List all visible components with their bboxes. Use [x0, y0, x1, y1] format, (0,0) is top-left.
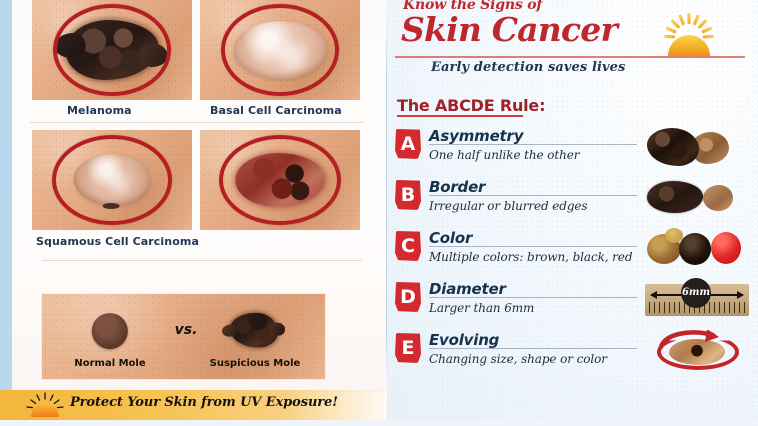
- abcde-row-border[interactable]: B Border Irregular or blurred edges: [395, 177, 755, 227]
- abcde-row-asymmetry[interactable]: A Asymmetry One half unlike the other: [395, 126, 755, 176]
- page-title-line2: Skin Cancer: [401, 12, 617, 48]
- letter-badge-c: C: [395, 231, 421, 261]
- letter-badge-a: A: [395, 129, 421, 159]
- skin-photo: [200, 0, 360, 100]
- lesion-suspicious-mole: [230, 313, 278, 348]
- highlight-ring: [53, 4, 171, 96]
- skin-photo: [32, 130, 192, 230]
- photo-cell-melanoma: [32, 0, 192, 100]
- row-title-border: Border: [429, 178, 489, 196]
- diameter-ruler-thumbnail: 6mm: [645, 277, 753, 325]
- skin-photo: [200, 130, 360, 230]
- photo-label-squamous-cell: Squamous Cell Carcinoma: [36, 235, 199, 248]
- six-mm-label: 6mm: [681, 278, 711, 308]
- lesion-normal-mole: [92, 313, 128, 349]
- photo-cell-squamous-cell: [32, 130, 192, 230]
- photo-label-melanoma: Melanoma: [67, 104, 132, 117]
- page-subtitle: Early detection saves lives: [431, 60, 625, 75]
- border-thumbnail: [645, 175, 753, 223]
- right-abcde-panel: Know the Signs of Skin Cancer Early dete…: [387, 0, 758, 426]
- asymmetry-thumbnail: [645, 124, 753, 172]
- lesion-thumb-light: [703, 185, 733, 211]
- divider-rule: [30, 122, 364, 123]
- normal-mole-label: Normal Mole: [54, 358, 166, 369]
- row-desc-color: Multiple colors: brown, black, red: [429, 250, 632, 264]
- badge-letter: A: [395, 129, 421, 159]
- highlight-ring: [219, 135, 341, 225]
- row-title-evolving: Evolving: [429, 331, 503, 349]
- vs-label: vs.: [169, 322, 203, 338]
- row-desc-border: Irregular or blurred edges: [429, 199, 588, 213]
- badge-letter: B: [395, 180, 421, 210]
- lesion-thumb-black: [679, 233, 711, 265]
- abcde-row-diameter[interactable]: D Diameter Larger than 6mm 6mm: [395, 279, 755, 329]
- row-desc-asymmetry: One half unlike the other: [429, 148, 579, 162]
- row-title-asymmetry: Asymmetry: [429, 127, 527, 145]
- photo-label-basal-cell: Basal Cell Carcinoma: [210, 104, 342, 117]
- badge-letter: C: [395, 231, 421, 261]
- row-title-diameter: Diameter: [429, 280, 510, 298]
- suspicious-mole-label: Suspicious Mole: [194, 358, 316, 369]
- sun-icon: [22, 392, 68, 418]
- divider-rule: [42, 260, 362, 261]
- mole-comparison-panel: vs. Normal Mole Suspicious Mole: [42, 294, 325, 379]
- highlight-ring: [52, 135, 172, 225]
- banner-text: Protect Your Skin from UV Exposure!: [70, 395, 338, 410]
- row-desc-evolving: Changing size, shape or color: [429, 352, 607, 366]
- lesion-thumb-dark: [647, 128, 699, 166]
- color-thumbnail: [645, 226, 753, 274]
- row-title-color: Color: [429, 229, 476, 247]
- row-desc-diameter: Larger than 6mm: [429, 301, 534, 315]
- abcde-heading: The ABCDE Rule:: [397, 96, 545, 115]
- six-mm-dot: 6mm: [681, 278, 711, 308]
- bottom-fill: [0, 420, 758, 426]
- photo-cell-ulcerated-lesion: [200, 130, 360, 230]
- badge-letter: E: [395, 333, 421, 363]
- uv-protection-banner: Protect Your Skin from UV Exposure!: [0, 390, 396, 420]
- suspicious-mole-image: [214, 302, 294, 358]
- evolving-thumbnail: [645, 328, 753, 376]
- sun-icon: [653, 12, 725, 60]
- highlight-ring: [221, 4, 339, 96]
- abcde-heading-underline: [397, 115, 523, 117]
- abcde-row-color[interactable]: C Color Multiple colors: brown, black, r…: [395, 228, 755, 278]
- letter-badge-e: E: [395, 333, 421, 363]
- skin-cancer-infographic: Melanoma Basal Cell Carcinoma Squamous C…: [0, 0, 758, 426]
- normal-mole-image: [84, 308, 136, 354]
- badge-letter: D: [395, 282, 421, 312]
- lesion-thumb-red: [711, 232, 741, 264]
- skin-photo: [32, 0, 192, 100]
- letter-badge-d: D: [395, 282, 421, 312]
- skin-photo: vs. Normal Mole Suspicious Mole: [42, 294, 325, 379]
- arrow-icon: [657, 330, 735, 352]
- abcde-row-evolving[interactable]: E Evolving Changing size, shape or color: [395, 330, 755, 380]
- photo-cell-basal-cell: [200, 0, 360, 100]
- letter-badge-b: B: [395, 180, 421, 210]
- lesion-thumb-dark: [647, 181, 703, 213]
